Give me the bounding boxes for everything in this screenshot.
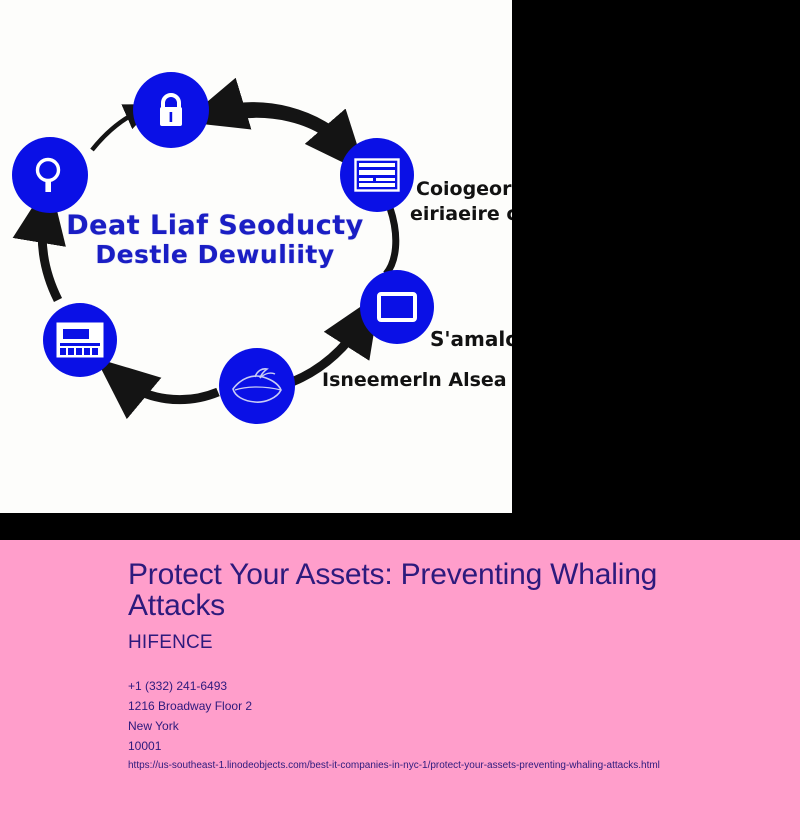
node-magnifier [12,137,88,213]
diagram-caption-4: Isneemerln Alsea [322,369,512,391]
cycle-diagram: Deat Liaf Seoducty Destle Dewuliity Coio… [0,0,512,513]
padlock-icon [153,90,189,130]
whale-icon [229,365,285,407]
contact-phone: +1 (332) 241-6493 [128,676,252,696]
diagram-caption-2: eiriaeire ce [410,203,512,225]
document-icon [354,158,400,192]
diagram-caption-1: Coiogeore [416,178,512,200]
page-title: Protect Your Assets: Preventing Whaling … [128,560,728,622]
diagram-center-line-2: Destle Dewuliity [60,242,370,268]
source-url-link[interactable]: https://us-southeast-1.linodeobjects.com… [128,760,660,771]
report-card-icon [56,322,104,358]
node-lock [133,72,209,148]
diagram-center-text: Deat Liaf Seoducty Destle Dewuliity [60,212,370,269]
node-document [340,138,414,212]
magnifier-icon [33,156,67,194]
hero-image-block: Deat Liaf Seoducty Destle Dewuliity Coio… [0,0,800,540]
contact-city: New York [128,716,252,736]
contact-street: 1216 Broadway Floor 2 [128,696,252,716]
page-root: Deat Liaf Seoducty Destle Dewuliity Coio… [0,0,800,840]
diagram-caption-3: S'amalo [430,327,512,351]
monitor-icon [377,292,417,322]
diagram-center-line-1: Deat Liaf Seoducty [60,212,370,240]
contact-zip: 10001 [128,736,252,756]
node-monitor [360,270,434,344]
brand-name: HIFENCE [128,632,213,654]
node-whale [219,348,295,424]
node-report-card [43,303,117,377]
contact-block: +1 (332) 241-6493 1216 Broadway Floor 2 … [128,676,252,756]
info-panel: Protect Your Assets: Preventing Whaling … [0,540,800,840]
